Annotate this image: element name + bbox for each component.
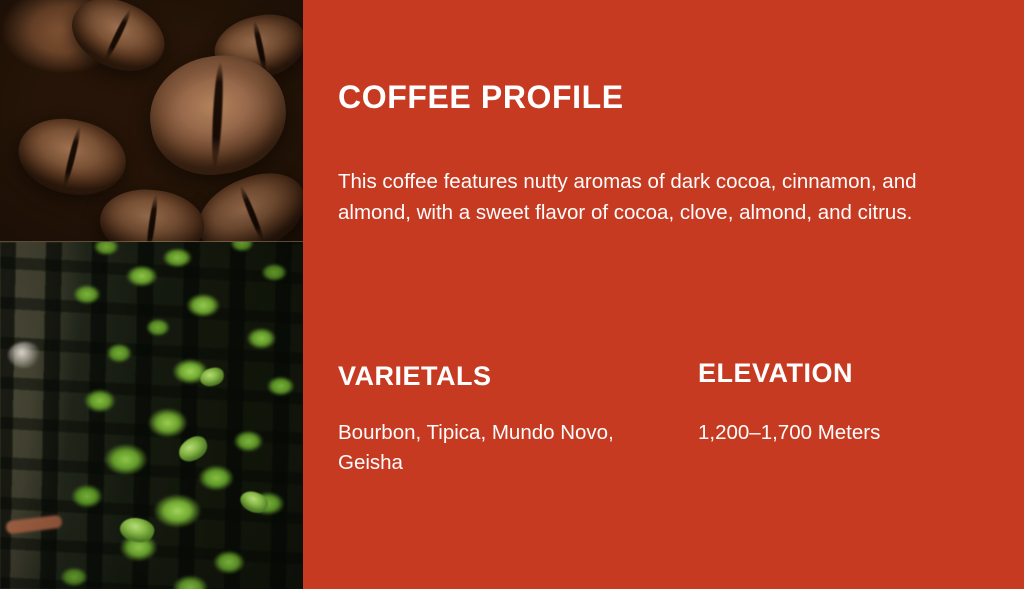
elevation-value: 1,200–1,700 Meters xyxy=(698,418,998,449)
varietals-heading: VARIETALS xyxy=(338,362,658,392)
elevation-section: ELEVATION 1,200–1,700 Meters xyxy=(698,359,998,448)
photo-vignette xyxy=(0,0,303,242)
roasted-coffee-beans-photo xyxy=(0,0,303,242)
info-panel: COFFEE PROFILE This coffee features nutt… xyxy=(303,0,1024,589)
photo-vignette xyxy=(0,242,303,589)
elevation-heading: ELEVATION xyxy=(698,359,998,389)
coffee-profile-card: COFFEE PROFILE This coffee features nutt… xyxy=(0,0,1024,589)
page-title: COFFEE PROFILE xyxy=(338,80,624,115)
profile-description: This coffee features nutty aromas of dar… xyxy=(338,166,938,228)
varietals-value: Bourbon, Tipica, Mundo Novo, Geisha xyxy=(338,418,658,480)
photo-divider xyxy=(0,241,303,242)
coffee-seedlings-nursery-photo xyxy=(0,242,303,589)
varietals-section: VARIETALS Bourbon, Tipica, Mundo Novo, G… xyxy=(338,362,658,479)
photo-column xyxy=(0,0,303,589)
